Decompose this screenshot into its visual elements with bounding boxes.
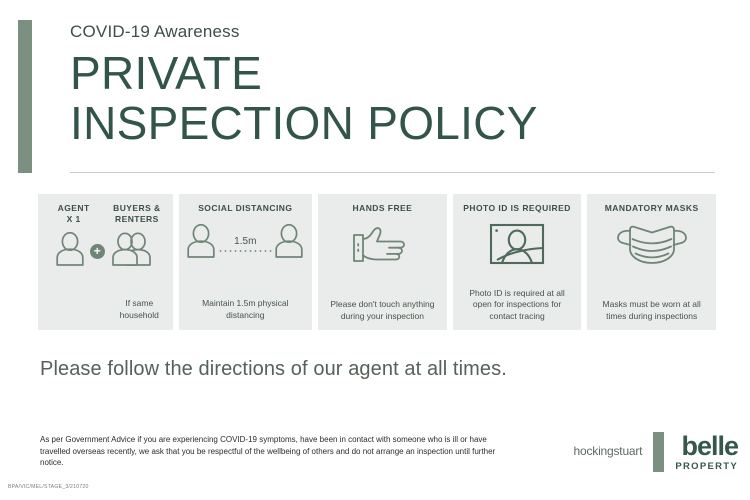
agent-heading-line2: x 1 [43,214,105,225]
belle-property-subtext: PROPERTY [675,461,738,472]
hands-icon-area [318,225,447,270]
document-code: BPA/VIC/MEL/STAGE_3/210720 [8,484,89,490]
person-icon [186,224,216,263]
distancing-heading: SOCIAL DISTANCING [198,203,292,214]
card-photo-id: PHOTO ID IS REQUIRED Photo ID is require… [453,194,582,330]
card-distancing-caption: Maintain 1.5m physical distancing [179,298,313,321]
card-social-distancing: SOCIAL DISTANCING 1.5m Maintain 1.5m phy… [179,194,313,330]
header-accent-bar [18,20,32,173]
hockingstuart-logo: hockingstuart [574,444,643,461]
distancing-icon-row: 1.5m [179,224,313,263]
photoid-heading: PHOTO ID IS REQUIRED [463,203,571,214]
dotted-line-icon [218,250,272,252]
masks-icon-area [587,222,716,271]
distance-label: 1.5m [234,236,256,247]
masks-heading: MANDATORY MASKS [605,203,699,214]
agent-icon-row: + [55,232,156,271]
card-photoid-caption: Photo ID is required at all open for ins… [453,288,582,323]
logos-group: hockingstuart belle PROPERTY [574,432,738,472]
eyebrow-label: COVID-19 Awareness [70,22,730,42]
info-cards-row: AGENT x 1 BUYERS & RENTERS + [38,194,716,330]
person-icon [55,232,85,271]
card-agent-heading-left: AGENT x 1 [43,203,105,225]
agent-heading-line1: AGENT [43,203,105,214]
logo-divider [653,432,664,472]
id-card-icon [489,223,545,270]
card-agent-headings: AGENT x 1 BUYERS & RENTERS [38,203,173,225]
tagline-text: Please follow the directions of our agen… [40,358,507,381]
hand-icon [351,225,413,270]
card-agent-heading-right: BUYERS & RENTERS [106,203,168,225]
belle-property-logo: belle PROPERTY [675,433,738,472]
card-mandatory-masks: MANDATORY MASKS Masks must be worn at al… [587,194,716,330]
card-agent-buyers: AGENT x 1 BUYERS & RENTERS + [38,194,173,330]
card-masks-caption: Masks must be worn at all times during i… [587,299,716,322]
person-icon [274,224,304,263]
group-people-icon [110,232,156,271]
photoid-icon-area [453,223,582,270]
hands-heading: HANDS FREE [353,203,413,214]
card-agent-caption: If same household [102,298,176,321]
card-hands-caption: Please don't touch anything during your … [318,299,447,322]
title-divider [70,172,715,173]
buyers-heading-line2: RENTERS [106,214,168,225]
page-title-line-2: INSPECTION POLICY [70,98,730,148]
buyers-heading-line1: BUYERS & [106,203,168,214]
disclaimer-text: As per Government Advice if you are expe… [40,434,518,469]
header-block: COVID-19 Awareness PRIVATE INSPECTION PO… [70,22,730,148]
card-hands-free: HANDS FREE Please don't touch anything d… [318,194,447,330]
distance-measure: 1.5m [216,236,274,252]
belle-wordmark: belle [681,433,738,460]
plus-badge-icon: + [90,244,105,259]
face-mask-icon [615,222,689,271]
page-title-line-1: PRIVATE [70,48,730,98]
